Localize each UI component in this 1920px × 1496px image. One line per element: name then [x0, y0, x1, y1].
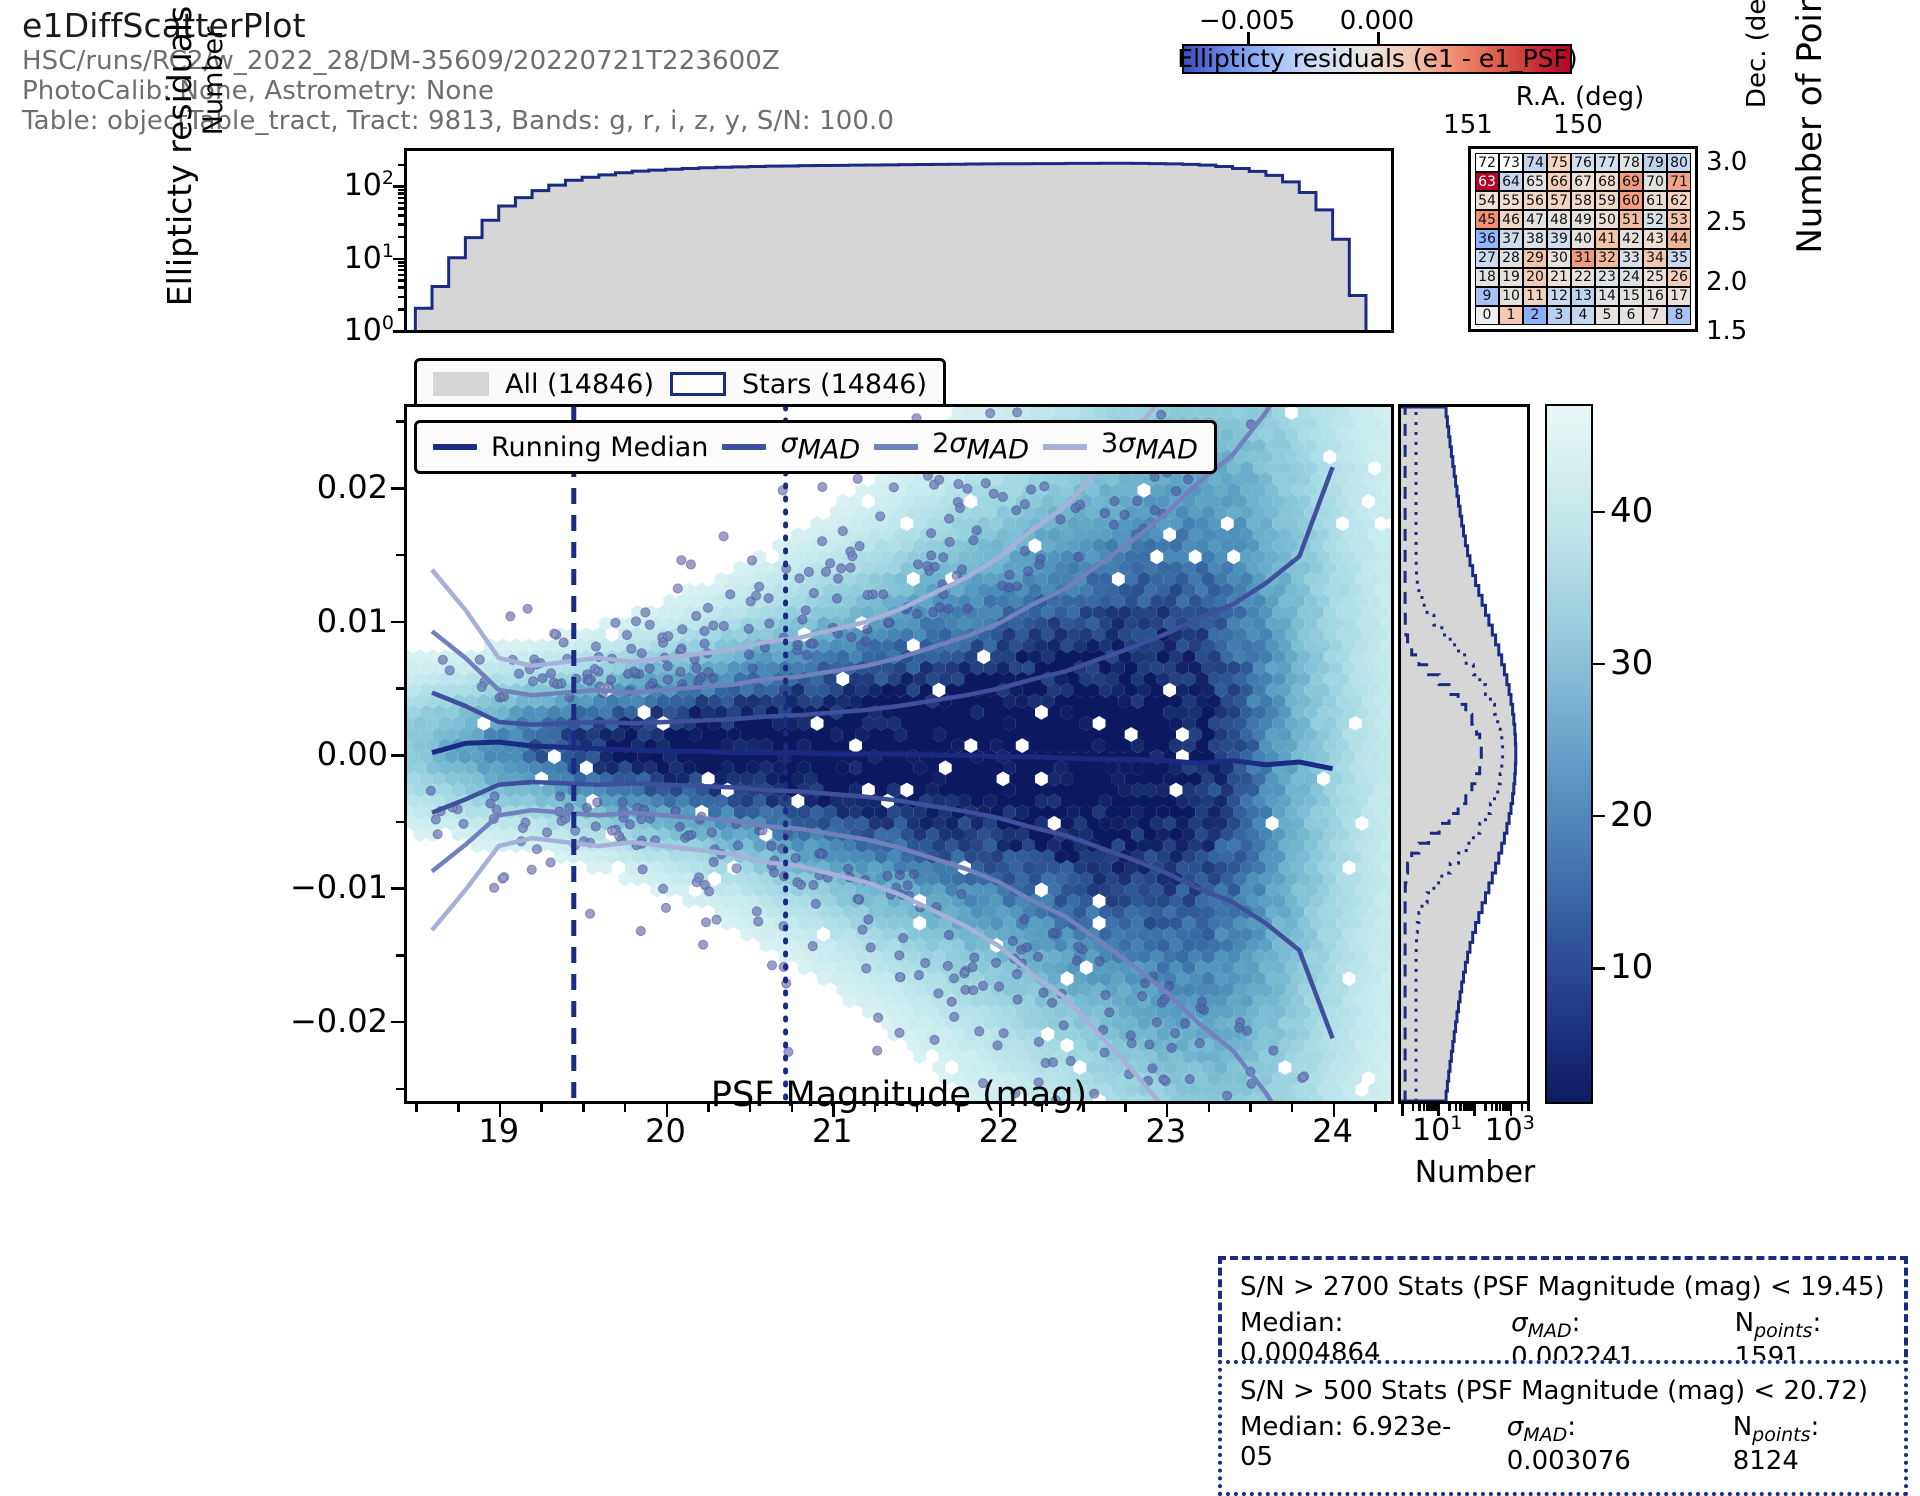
skymap-tract-cell: 80	[1667, 153, 1691, 172]
skymap-tract-cell: 11	[1523, 287, 1547, 306]
skymap-tract-cell: 65	[1523, 172, 1547, 191]
main-stats-legend: Running Median σMAD 2σMAD 3σMAD	[414, 420, 1217, 474]
skymap-dec-ticklabels: 3.02.52.01.5	[1700, 146, 1760, 332]
skymap-tract-cell: 12	[1547, 287, 1571, 306]
skymap-tract-cell: 43	[1643, 229, 1667, 248]
skymap-tract-cell: 2	[1523, 306, 1547, 325]
skymap-tract-cell: 16	[1643, 287, 1667, 306]
skymap-ra-axis-label: R.A. (deg)	[1455, 82, 1705, 112]
skymap-tract-cell: 26	[1667, 268, 1691, 287]
main-x-ticklabel: 20	[645, 1112, 686, 1150]
skymap-tract-cell: 38	[1523, 229, 1547, 248]
main-y-ticklabel: 0.00	[317, 735, 388, 773]
stats-sigma-mid-sn: σMAD: 0.003076	[1507, 1412, 1699, 1476]
stats-title-high-sn: S/N > 2700 Stats (PSF Magnitude (mag) < …	[1240, 1272, 1886, 1302]
skymap-dec-ticklabel: 3.0	[1706, 147, 1747, 177]
skymap-tract-cell: 59	[1595, 191, 1619, 210]
skymap-tract-cell: 34	[1643, 249, 1667, 268]
subtitle-table: Table: objectTable_tract, Tract: 9813, B…	[22, 106, 894, 136]
ellipticity-colorbar-ticklabel: −0.005	[1199, 6, 1295, 36]
legend-line-running-median	[433, 444, 477, 450]
main-scatter-svg	[407, 407, 1391, 1101]
skymap-tract-grid: 7273747576777879806364656667686970715455…	[1475, 153, 1691, 325]
skymap-tract-cell: 25	[1643, 268, 1667, 287]
skymap-tract-cell: 69	[1619, 172, 1643, 191]
main-y-ticklabel: −0.01	[290, 868, 388, 906]
main-y-ticklabels: 0.020.010.00−0.01−0.02	[180, 404, 398, 1104]
skymap-tract-cell: 71	[1667, 172, 1691, 191]
skymap-tract-cell: 8	[1667, 306, 1691, 325]
legend-line-3sigma-mad	[1043, 444, 1087, 450]
skymap-tract-cell: 47	[1523, 210, 1547, 229]
legend-label-stars: Stars (14846)	[742, 369, 927, 400]
stats-box-mid-sn: S/N > 500 Stats (PSF Magnitude (mag) < 2…	[1218, 1360, 1908, 1496]
top-histogram-yticklabel: 102	[344, 167, 394, 203]
skymap-tract-cell: 40	[1571, 229, 1595, 248]
skymap-tract-cell: 36	[1475, 229, 1499, 248]
skymap-tract-cell: 66	[1547, 172, 1571, 191]
main-y-ticklabel: 0.02	[317, 468, 388, 506]
skymap-tract-cell: 29	[1523, 249, 1547, 268]
ellipticity-colorbar	[1182, 44, 1572, 74]
legend-label-2sigma-mad: 2σMAD	[932, 428, 1029, 465]
top-histogram-svg	[407, 151, 1391, 330]
skymap-tract-cell: 70	[1643, 172, 1667, 191]
skymap-tract-cell: 17	[1667, 287, 1691, 306]
skymap-tract-cell: 21	[1547, 268, 1571, 287]
main-x-ticklabel: 23	[1145, 1112, 1186, 1150]
top-histogram-panel	[404, 148, 1394, 333]
legend-label-sigma-mad: σMAD	[780, 428, 860, 465]
skymap-ra-ticklabel: 151	[1443, 110, 1493, 140]
skymap-tract-cell: 30	[1547, 249, 1571, 268]
side-histogram-xticklabel: 103	[1485, 1112, 1535, 1148]
legend-label-all: All (14846)	[505, 369, 654, 400]
skymap-dec-ticklabel: 1.5	[1706, 316, 1747, 346]
skymap-tract-cell: 19	[1499, 268, 1523, 287]
skymap-tract-cell: 9	[1475, 287, 1499, 306]
skymap-tract-cell: 48	[1547, 210, 1571, 229]
skymap-tract-cell: 68	[1595, 172, 1619, 191]
side-histogram-xticklabel: 101	[1412, 1112, 1462, 1148]
count-colorbar-ticklabel: 40	[1610, 491, 1653, 531]
count-colorbar	[1545, 404, 1593, 1104]
subtitle-collection: HSC/runs/RC2/w_2022_28/DM-35609/20220721…	[22, 46, 780, 76]
skymap-tract-cell: 51	[1619, 210, 1643, 229]
main-y-ticklabel: −0.02	[290, 1002, 388, 1040]
count-colorbar-label: Number of Points Per Bin	[1790, 0, 1830, 398]
skymap-tract-cell: 57	[1547, 191, 1571, 210]
skymap-tract-cell: 61	[1643, 191, 1667, 210]
main-y-axis-label: Ellipticty residuals (e1 - e1_PSF)	[160, 0, 199, 398]
legend-swatch-stars	[670, 372, 726, 396]
skymap-tract-cell: 77	[1595, 153, 1619, 172]
main-x-axis-label: PSF Magnitude (mag)	[404, 1075, 1394, 1115]
skymap-tract-cell: 44	[1667, 229, 1691, 248]
legend-label-running-median: Running Median	[491, 432, 708, 463]
skymap-tract-cell: 46	[1499, 210, 1523, 229]
skymap-tract-cell: 23	[1595, 268, 1619, 287]
stats-values-mid-sn: Median: 6.923e-05 σMAD: 0.003076 Npoints…	[1240, 1412, 1886, 1476]
skymap-tract-cell: 32	[1595, 249, 1619, 268]
stats-title-mid-sn: S/N > 500 Stats (PSF Magnitude (mag) < 2…	[1240, 1376, 1886, 1406]
side-histogram-xticklabels: 101103	[1398, 1112, 1530, 1152]
count-colorbar-ticklabels: 10203040	[1608, 404, 1728, 1104]
stats-npoints-mid-sn: Npoints: 8124	[1733, 1412, 1886, 1476]
skymap-tract-cell: 50	[1595, 210, 1619, 229]
ellipticity-colorbar-gradient	[1182, 44, 1572, 74]
main-y-tickmarks	[384, 404, 404, 1104]
skymap-dec-ticklabel: 2.5	[1706, 207, 1747, 237]
count-colorbar-ticklabel: 10	[1610, 947, 1653, 987]
ellipticity-colorbar-ticks: −0.0050.000	[1182, 32, 1572, 44]
main-y-ticklabel: 0.01	[317, 602, 388, 640]
skymap-tract-cell: 54	[1475, 191, 1499, 210]
count-colorbar-ticklabel: 20	[1610, 795, 1653, 835]
top-histogram-legend: All (14846) Stars (14846)	[414, 358, 946, 410]
side-histogram-xlabel: Number	[1330, 1155, 1620, 1190]
skymap-tract-cell: 41	[1595, 229, 1619, 248]
side-histogram-svg	[1401, 407, 1527, 1101]
skymap-tract-cell: 42	[1619, 229, 1643, 248]
skymap-tract-cell: 79	[1643, 153, 1667, 172]
skymap-tract-cell: 45	[1475, 210, 1499, 229]
main-x-ticklabel: 22	[979, 1112, 1020, 1150]
skymap-tract-cell: 7	[1643, 306, 1667, 325]
main-scatter-panel	[404, 404, 1394, 1104]
skymap-dec-axis-label: Dec. (deg)	[1742, 0, 1772, 140]
skymap-tract-cell: 39	[1547, 229, 1571, 248]
legend-line-2sigma-mad	[874, 444, 918, 450]
skymap-tract-cell: 62	[1667, 191, 1691, 210]
skymap-tract-cell: 18	[1475, 268, 1499, 287]
skymap-tract-cell: 22	[1571, 268, 1595, 287]
skymap-tract-cell: 1	[1499, 306, 1523, 325]
skymap-tract-cell: 24	[1619, 268, 1643, 287]
skymap-tract-cell: 76	[1571, 153, 1595, 172]
main-x-ticklabel: 19	[478, 1112, 519, 1150]
skymap-tract-cell: 58	[1571, 191, 1595, 210]
ellipticity-colorbar-ticklabel: 0.000	[1340, 6, 1414, 36]
skymap-tract-cell: 55	[1499, 191, 1523, 210]
skymap-tract-cell: 6	[1619, 306, 1643, 325]
skymap-dec-ticklabel: 2.0	[1706, 267, 1747, 297]
top-histogram-ylabel: Number	[198, 0, 229, 176]
legend-swatch-all	[433, 372, 489, 396]
skymap-tract-cell: 60	[1619, 191, 1643, 210]
count-colorbar-ticklabel: 30	[1610, 643, 1653, 683]
skymap-tract-cell: 14	[1595, 287, 1619, 306]
skymap-tract-cell: 64	[1499, 172, 1523, 191]
top-histogram-all-area	[415, 163, 1366, 330]
skymap-tract-cell: 49	[1571, 210, 1595, 229]
skymap-tract-cell: 75	[1547, 153, 1571, 172]
skymap-tract-cell: 53	[1667, 210, 1691, 229]
skymap-tract-cell: 56	[1523, 191, 1547, 210]
skymap-tract-cell: 37	[1499, 229, 1523, 248]
stats-median-mid-sn: Median: 6.923e-05	[1240, 1412, 1473, 1476]
skymap-tract-cell: 10	[1499, 287, 1523, 306]
skymap-tract-cell: 72	[1475, 153, 1499, 172]
skymap-tract-cell: 28	[1499, 249, 1523, 268]
skymap-tract-cell: 33	[1619, 249, 1643, 268]
skymap-tract-cell: 52	[1643, 210, 1667, 229]
skymap-tract-cell: 13	[1571, 287, 1595, 306]
skymap-tract-cell: 63	[1475, 172, 1499, 191]
skymap-tract-cell: 0	[1475, 306, 1499, 325]
top-histogram-yticklabel: 100	[344, 312, 394, 348]
skymap-tract-cell: 5	[1595, 306, 1619, 325]
skymap-tract-cell: 3	[1547, 306, 1571, 325]
skymap-tract-cell: 31	[1571, 249, 1595, 268]
legend-label-3sigma-mad: 3σMAD	[1101, 428, 1198, 465]
subtitle-calib: PhotoCalib: None, Astrometry: None	[22, 76, 494, 106]
skymap-tract-cell: 35	[1667, 249, 1691, 268]
side-histogram-panel	[1398, 404, 1530, 1104]
skymap-ra-ticklabel: 150	[1553, 110, 1603, 140]
main-x-ticklabels: 192021222324	[404, 1112, 1394, 1152]
skymap-tract-cell: 27	[1475, 249, 1499, 268]
skymap-tract-cell: 78	[1619, 153, 1643, 172]
main-x-ticklabel: 24	[1312, 1112, 1353, 1150]
skymap-tract-cell: 20	[1523, 268, 1547, 287]
skymap-tract-cell: 74	[1523, 153, 1547, 172]
top-histogram-yticklabel: 101	[344, 240, 394, 276]
skymap-tract-cell: 4	[1571, 306, 1595, 325]
main-x-ticklabel: 21	[812, 1112, 853, 1150]
skymap-tract-cell: 15	[1619, 287, 1643, 306]
side-histogram-all-area	[1401, 407, 1516, 1101]
skymap-ra-ticklabels: 151150	[1440, 110, 1730, 138]
skymap-tract-cell: 73	[1499, 153, 1523, 172]
legend-line-sigma-mad	[722, 444, 766, 450]
skymap-tract-cell: 67	[1571, 172, 1595, 191]
skymap-panel: 7273747576777879806364656667686970715455…	[1468, 146, 1698, 332]
